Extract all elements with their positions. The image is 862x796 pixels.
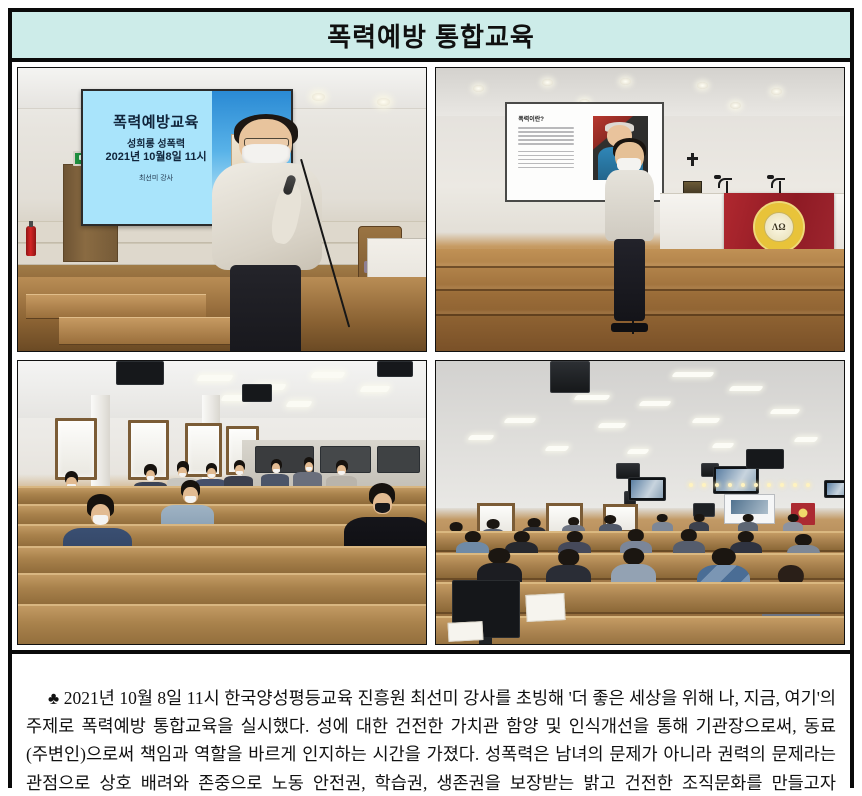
ceiling-light <box>626 449 649 454</box>
caption-text: 2021년 10월 8일 11시 한국양성평등교육 진흥원 최선미 강사를 초빙… <box>26 688 836 796</box>
ceiling-light <box>769 409 800 414</box>
downlight-icon <box>377 98 390 106</box>
audience-mask <box>147 476 154 481</box>
university-seal-icon: ΛΩ <box>753 201 805 253</box>
downlight-icon <box>620 78 631 85</box>
seal-monogram: ΛΩ <box>764 212 794 242</box>
photo-auditorium-wide-view <box>435 360 845 645</box>
audience-mask <box>375 503 391 513</box>
fire-extinguisher-icon <box>26 226 36 256</box>
paper-sheet <box>448 621 484 642</box>
photo-audience-seated-in-pews <box>17 360 427 645</box>
pew-row <box>18 573 426 608</box>
ceiling-light <box>691 418 720 423</box>
window <box>55 418 98 481</box>
ceiling-light <box>598 423 627 428</box>
ceiling-speaker <box>242 384 272 402</box>
downlight-icon <box>473 85 484 92</box>
paper-sheet <box>525 593 565 622</box>
cross-icon <box>691 153 694 166</box>
report-sheet: 폭력예방 통합교육 <box>8 8 854 788</box>
club-mark-icon: ♣ <box>48 689 59 708</box>
slide-text-block: 폭력예방교육 성희롱 성폭력 2021년 10월8일 11시 최선미 강사 <box>92 115 221 183</box>
slide-line-1: 폭력예방교육 <box>92 115 221 132</box>
ceiling-monitor <box>116 361 164 385</box>
ceiling-monitor <box>746 449 784 469</box>
pew-row <box>18 546 426 575</box>
legs <box>230 265 301 351</box>
ceiling-monitor <box>713 466 759 494</box>
string-lights <box>689 483 820 488</box>
page-title: 폭력예방 통합교육 <box>327 17 535 54</box>
stage-step <box>26 294 206 319</box>
speaker-figure <box>603 142 656 329</box>
ceiling-light <box>728 386 763 391</box>
report-page: 폭력예방 통합교육 <box>0 0 862 796</box>
page-header: 폭력예방 통합교육 <box>12 12 850 62</box>
ceiling-monitor <box>377 361 413 377</box>
ceiling-light <box>504 418 537 423</box>
audience-mask <box>236 471 243 475</box>
torso <box>605 170 654 241</box>
audience-mask <box>93 515 108 525</box>
caption-section: ♣ 2021년 10월 8일 11시 한국양성평등교육 진흥원 최선미 강사를 … <box>12 650 850 796</box>
audience-mask <box>273 469 280 473</box>
ceiling-monitor <box>628 477 666 501</box>
ceiling-light <box>196 375 233 381</box>
ceiling-light <box>359 386 390 392</box>
legs <box>614 239 645 321</box>
photo-speaker-on-stage-with-banner: 폭력이란? <box>435 67 845 352</box>
slide-line-3: 2021년 10월8일 11시 <box>92 151 221 165</box>
slide-line-2: 성희롱 성폭력 <box>92 139 221 152</box>
shoes <box>611 323 648 332</box>
caption-paragraph: ♣ 2021년 10월 8일 11시 한국양성평등교육 진흥원 최선미 강사를 … <box>26 684 836 796</box>
slide-body-lines <box>518 127 574 170</box>
ceiling-light <box>310 372 345 378</box>
ceiling-light <box>573 395 610 400</box>
slide-line-4: 최선미 강사 <box>92 173 221 183</box>
ceiling-speaker <box>550 361 590 393</box>
ceiling-monitor <box>824 480 844 498</box>
instructor-figure <box>210 119 324 351</box>
pew-row <box>18 604 426 644</box>
ceiling-light <box>671 372 714 377</box>
downlight-icon <box>730 102 741 109</box>
downlight-icon <box>771 88 782 95</box>
back-door <box>377 446 420 473</box>
ceiling-light <box>638 401 671 406</box>
photo-instructor-with-microphone: 폭력예방교육 성희롱 성폭력 2021년 10월8일 11시 최선미 강사 <box>17 67 427 352</box>
slide-title: 폭력이란? <box>518 114 544 123</box>
photo-grid: 폭력예방교육 성희롱 성폭력 2021년 10월8일 11시 최선미 강사 <box>12 62 850 650</box>
ceiling-light <box>286 401 313 407</box>
ceiling-light <box>544 446 569 451</box>
ceiling-light <box>467 435 494 440</box>
